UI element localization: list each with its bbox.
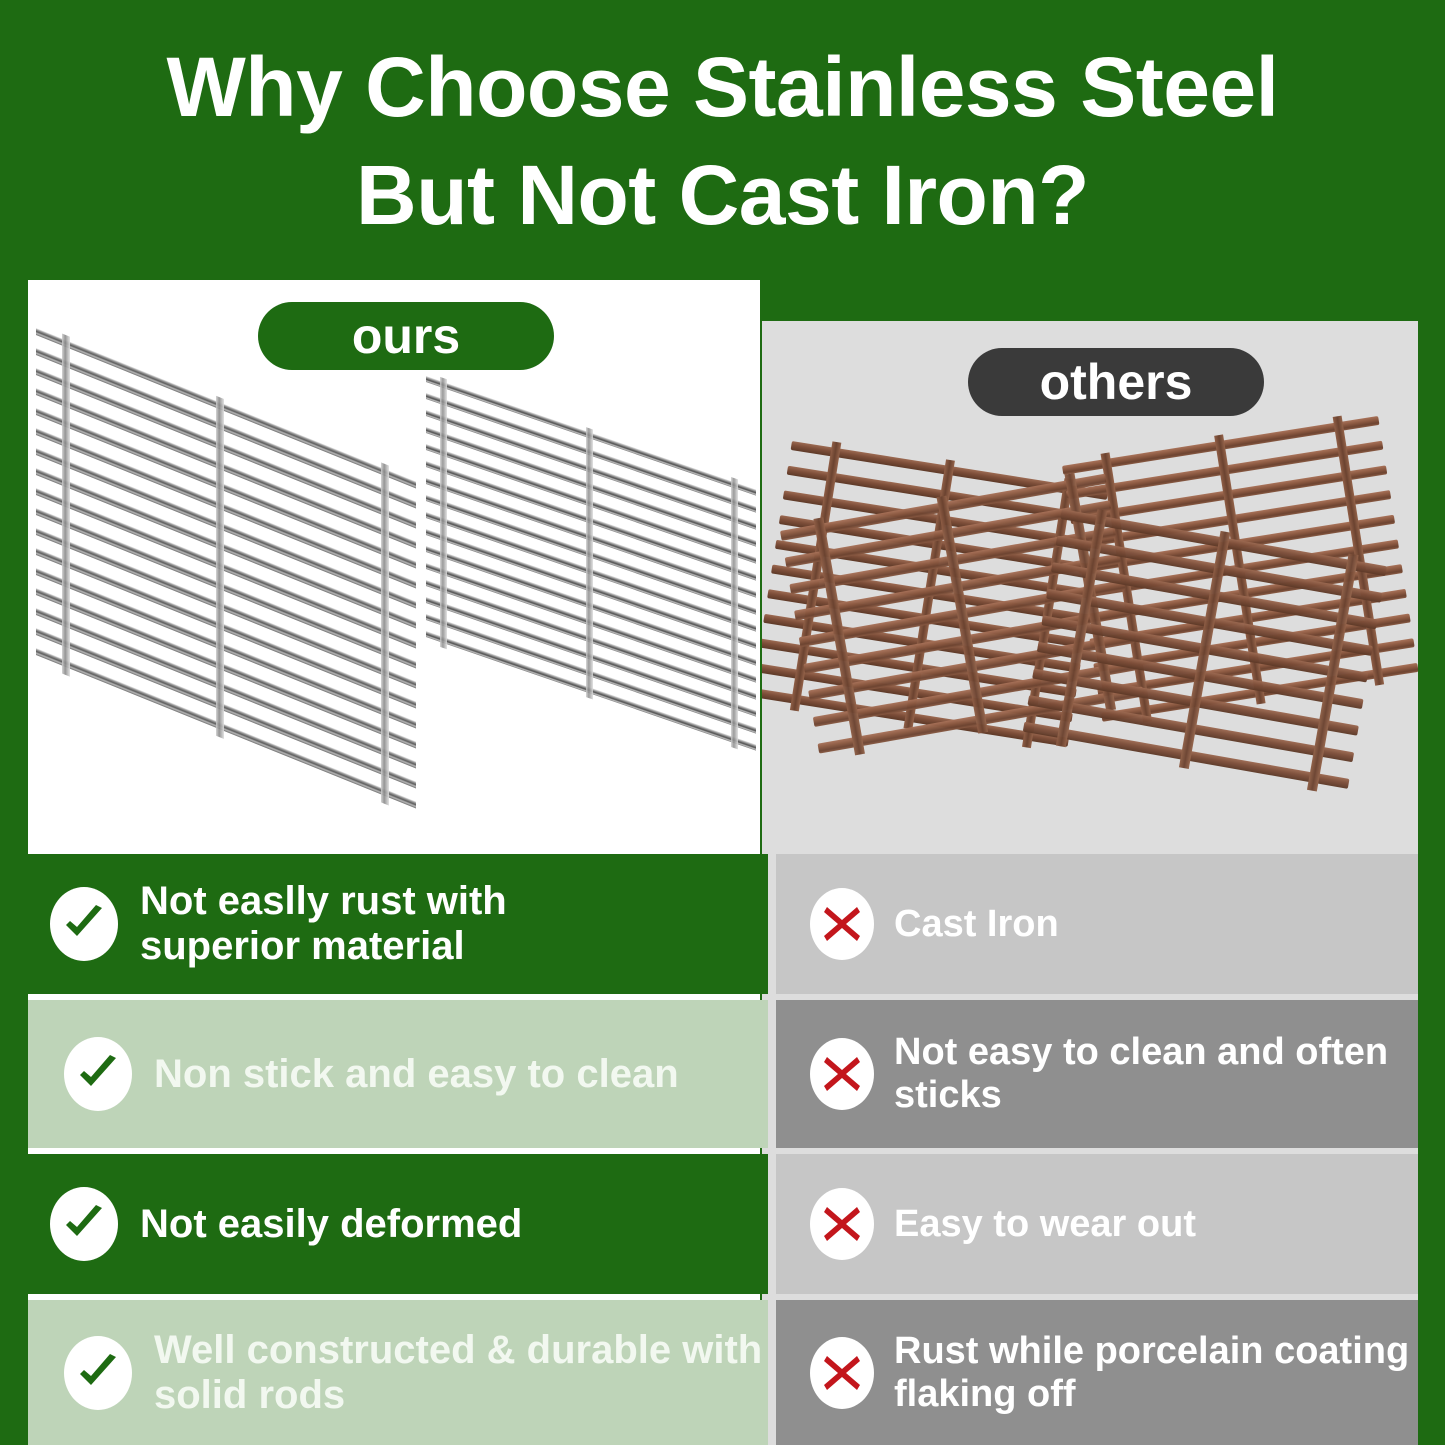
check-icon (64, 1336, 132, 1410)
others-feature-row-3: Easy to wear out (776, 1154, 1418, 1294)
badge-others-label: others (1040, 353, 1193, 411)
ours-check-icon-wrap-2 (42, 1037, 154, 1111)
others-feature-row-1: Cast Iron (776, 854, 1418, 994)
ours-feature-row-1: Not easlly rust with superior material (0, 854, 768, 994)
cross-icon (810, 1188, 874, 1260)
check-icon (50, 1187, 118, 1261)
others-feature-label-1: Cast Iron (894, 903, 1059, 946)
ours-feature-label-3: Not easily deformed (140, 1202, 522, 1247)
ours-feature-label-4: Well constructed & durable with solid ro… (154, 1328, 762, 1418)
ours-feature-list: Not easlly rust with superior material N… (0, 854, 768, 1445)
badge-others: others (968, 348, 1264, 416)
others-cross-icon-wrap-3 (790, 1188, 894, 1260)
check-icon (64, 1037, 132, 1111)
others-cross-icon-wrap-2 (790, 1038, 894, 1110)
others-cross-icon-wrap-1 (790, 888, 894, 960)
badge-ours-label: ours (352, 307, 460, 365)
cross-icon (810, 1038, 874, 1110)
page-title: Why Choose Stainless Steel But Not Cast … (0, 34, 1445, 249)
ours-feature-row-3: Not easily deformed (0, 1154, 768, 1294)
others-feature-row-4: Rust while porcelain coating flaking off (776, 1300, 1418, 1445)
others-cross-icon-wrap-4 (790, 1337, 894, 1409)
cross-icon (810, 888, 874, 960)
check-icon (50, 887, 118, 961)
others-feature-label-3: Easy to wear out (894, 1203, 1196, 1246)
others-feature-row-2: Not easy to clean and often sticks (776, 1000, 1418, 1148)
ours-check-icon-wrap-3 (28, 1187, 140, 1261)
ours-check-icon-wrap-4 (42, 1336, 154, 1410)
ours-feature-label-1: Not easlly rust with superior material (140, 879, 507, 969)
others-feature-label-2: Not easy to clean and often sticks (894, 1031, 1388, 1116)
ours-feature-row-2: Non stick and easy to clean (28, 1000, 768, 1148)
others-feature-label-4: Rust while porcelain coating flaking off (894, 1330, 1409, 1415)
ours-feature-label-2: Non stick and easy to clean (154, 1052, 679, 1097)
cross-icon (810, 1337, 874, 1409)
others-feature-list: Cast Iron Not easy to clean and often st… (762, 854, 1445, 1445)
ours-check-icon-wrap-1 (28, 887, 140, 961)
ours-feature-row-4: Well constructed & durable with solid ro… (28, 1300, 768, 1445)
badge-ours: ours (258, 302, 554, 370)
